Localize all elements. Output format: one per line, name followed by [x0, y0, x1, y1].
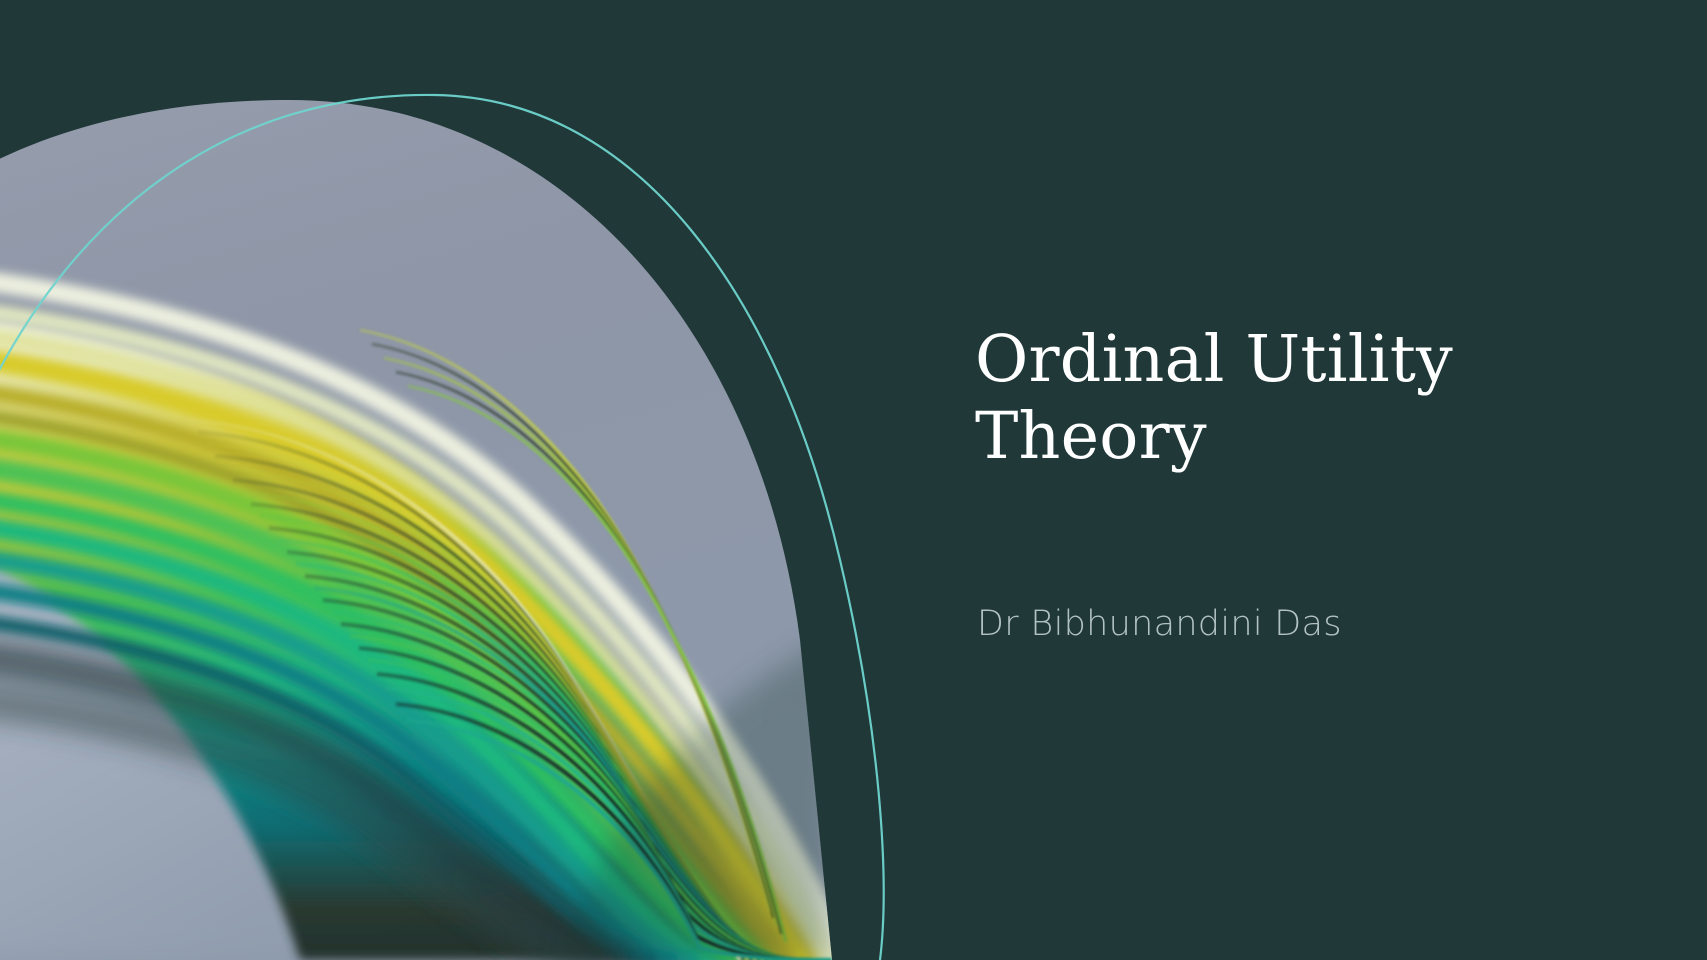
decorative-image-arch	[0, 0, 900, 960]
title-text-block: Ordinal Utility Theory Dr Bibhunandini D…	[975, 0, 1615, 960]
page-title: Ordinal Utility Theory	[975, 322, 1535, 475]
quilled-paper-photo	[0, 0, 900, 960]
slide-subtitle-author: Dr Bibhunandini Das	[977, 602, 1537, 648]
title-slide: Ordinal Utility Theory Dr Bibhunandini D…	[0, 0, 1707, 960]
